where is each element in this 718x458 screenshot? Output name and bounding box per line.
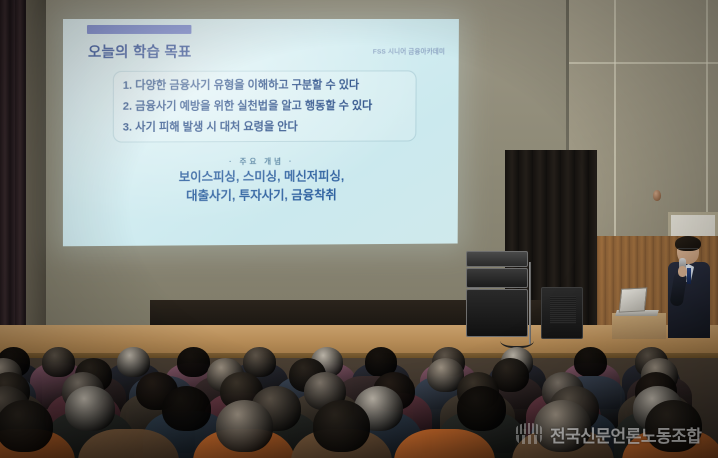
speaker-grill-icon [550,296,576,324]
audience-member-head [0,400,53,452]
watermark-text: 전국신문언론노동조합 [550,422,701,447]
audience-member-head [313,400,370,452]
slide-accent-bar [87,25,191,34]
slide-canvas: 오늘의 학습 목표 FSS 시니어 금융아카데미 1. 다양한 금융사기 유형을… [63,19,459,246]
audience-member-head [177,347,210,377]
key-concepts-line: 보이스피싱, 스미싱, 메신저피싱, [63,167,458,188]
rack-unit-mid [466,268,528,288]
rack-unit-top [466,251,528,267]
union-emblem-icon [512,421,546,447]
key-concepts-list: 보이스피싱, 스미싱, 메신저피싱, 대출사기, 투자사기, 금융착취 [63,167,458,207]
presenter-hand [678,266,687,277]
watermark: 전국신문언론노동조합 [512,418,718,450]
pa-speaker-cabinet [541,287,583,339]
projected-slide: 오늘의 학습 목표 FSS 시니어 금융아카데미 1. 다양한 금융사기 유형을… [63,19,459,246]
presenter [666,238,712,338]
audience-member-head [100,400,157,452]
wooden-podium [612,313,666,339]
presenter-tie [687,268,691,284]
audio-equipment-rack [466,251,528,337]
key-concepts-line: 대출사기, 투자사기, 금융착취 [63,186,458,207]
glasses-icon [678,248,698,252]
lecture-hall-photo: 오늘의 학습 목표 FSS 시니어 금융아카데미 1. 다양한 금융사기 유형을… [0,0,718,458]
objective-item: 3. 사기 피해 발생 시 대처 요령을 안다 [123,117,419,139]
wall-seam-horizontal [566,62,718,64]
objective-item: 1. 다양한 금융사기 유형을 이해하고 구분할 수 있다 [123,75,419,96]
audio-cable [500,330,534,348]
audience-member-head [162,386,211,431]
objective-item: 2. 금융사기 예방을 위한 실천법을 알고 행동할 수 있다 [123,96,419,118]
slide-subtitle: FSS 시니어 금융아카데미 [373,46,445,56]
key-concepts-label: · 주요 개념 · [63,155,458,168]
presentation-laptop [619,287,648,312]
wall-fixture-icon [653,190,661,201]
stage-curtain-left [0,0,26,352]
slide-title: 오늘의 학습 목표 [88,41,192,62]
audience-member-head [42,347,75,377]
audience-member-head [216,400,273,452]
objectives-list: 1. 다양한 금융사기 유형을 이해하고 구분할 수 있다 2. 금융사기 예방… [123,75,419,138]
audience-member-head [416,400,473,452]
